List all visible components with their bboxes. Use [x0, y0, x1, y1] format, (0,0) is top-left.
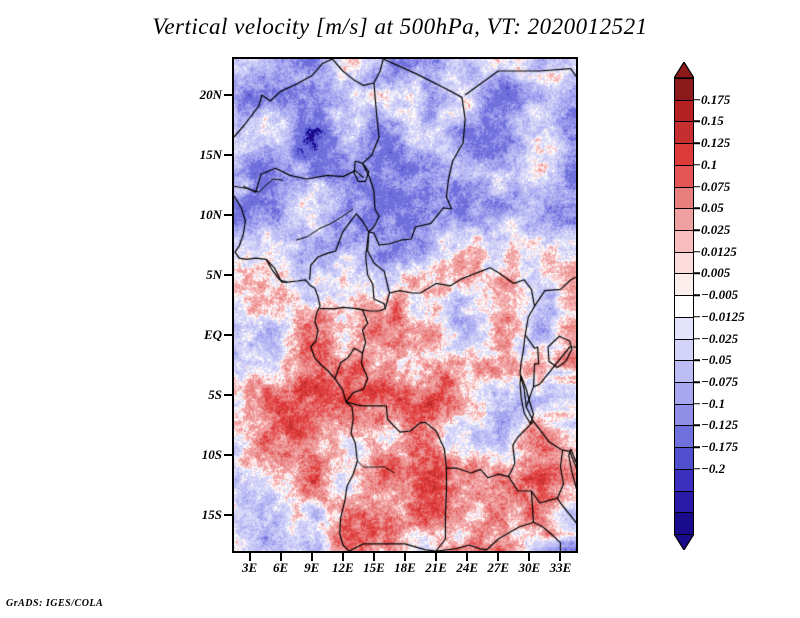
colorbar-swatch: [674, 230, 694, 253]
longitude-tick-mark: [280, 553, 282, 561]
latitude-tick-label: 15N: [200, 147, 222, 163]
colorbar-tick-mark: [694, 425, 700, 427]
latitude-tick-label: 5S: [208, 387, 222, 403]
colorbar-tick-mark: [694, 446, 700, 448]
colorbar-tick-mark: [694, 360, 700, 362]
credit-label: GrADS: IGES/COLA: [6, 598, 103, 609]
longitude-tick-label: 6E: [273, 560, 288, 576]
latitude-tick-mark: [224, 274, 232, 276]
latitude-tick-mark: [224, 154, 232, 156]
colorbar-tick-label: −0.1: [701, 396, 725, 412]
latitude-tick-label: 20N: [200, 87, 222, 103]
longitude-tick-mark: [435, 553, 437, 561]
colorbar-tick-mark: [694, 99, 700, 101]
colorbar-tick-label: 0.125: [701, 135, 730, 151]
latitude-tick-label: 15S: [202, 507, 222, 523]
colorbar-swatch: [674, 121, 694, 144]
colorbar-tick-mark: [694, 164, 700, 166]
longitude-tick-mark: [497, 553, 499, 561]
colorbar-tick-label: −0.005: [701, 287, 738, 303]
latitude-tick-mark: [224, 334, 232, 336]
colorbar-tick-label: −0.025: [701, 331, 738, 347]
colorbar-swatch: [674, 339, 694, 362]
longitude-tick-mark: [311, 553, 313, 561]
latitude-tick-mark: [224, 514, 232, 516]
longitude-tick-label: 24E: [456, 560, 478, 576]
colorbar-tick-mark: [694, 142, 700, 144]
latitude-tick-label: EQ: [204, 327, 222, 343]
latitude-tick-label: 10S: [202, 447, 222, 463]
colorbar-tick-label: 0.1: [701, 157, 717, 173]
colorbar-swatch: [674, 425, 694, 448]
colorbar-swatch: [674, 165, 694, 188]
colorbar-arrow-top: [674, 62, 694, 78]
longitude-tick-mark: [249, 553, 251, 561]
latitude-tick-label: 10N: [200, 207, 222, 223]
colorbar-swatch: [674, 360, 694, 383]
colorbar-swatch: [674, 208, 694, 231]
colorbar-tick-mark: [694, 338, 700, 340]
longitude-tick-mark: [342, 553, 344, 561]
colorbar-tick-label: 0.05: [701, 200, 724, 216]
colorbar-tick-label: 0.15: [701, 113, 724, 129]
colorbar-swatch: [674, 382, 694, 405]
map-panel[interactable]: [232, 57, 578, 553]
longitude-tick-mark: [373, 553, 375, 561]
colorbar-tick-mark: [694, 294, 700, 296]
longitude-tick-mark: [466, 553, 468, 561]
colorbar-swatch: [674, 317, 694, 340]
colorbar-swatch: [674, 447, 694, 470]
colorbar-tick-label: 0.025: [701, 222, 730, 238]
colorbar-tick-label: −0.175: [701, 439, 738, 455]
colorbar-swatch: [674, 469, 694, 492]
longitude-tick-label: 33E: [550, 560, 572, 576]
longitude-tick-label: 30E: [519, 560, 541, 576]
latitude-tick-mark: [224, 454, 232, 456]
colorbar-swatch: [674, 404, 694, 427]
colorbar-swatch: [674, 100, 694, 123]
vertical-velocity-field: [234, 59, 576, 551]
colorbar-tick-mark: [694, 229, 700, 231]
colorbar-arrow-bottom: [674, 534, 694, 550]
longitude-tick-mark: [559, 553, 561, 561]
colorbar[interactable]: 0.1750.150.1250.10.0750.050.0250.01250.0…: [668, 62, 798, 562]
colorbar-tick-label: 0.175: [701, 92, 730, 108]
colorbar-tick-label: −0.125: [701, 417, 738, 433]
page-title: Vertical velocity [m/s] at 500hPa, VT: 2…: [0, 14, 800, 40]
colorbar-swatch: [674, 491, 694, 514]
colorbar-swatch: [674, 143, 694, 166]
colorbar-swatch: [674, 273, 694, 296]
colorbar-tick-mark: [694, 251, 700, 253]
colorbar-tick-label: −0.05: [701, 352, 732, 368]
colorbar-tick-mark: [694, 316, 700, 318]
colorbar-tick-mark: [694, 121, 700, 123]
latitude-tick-mark: [224, 94, 232, 96]
colorbar-tick-mark: [694, 208, 700, 210]
colorbar-swatch: [674, 78, 694, 101]
longitude-tick-label: 9E: [304, 560, 319, 576]
longitude-tick-label: 15E: [363, 560, 385, 576]
colorbar-tick-mark: [694, 273, 700, 275]
latitude-tick-label: 5N: [206, 267, 222, 283]
colorbar-tick-mark: [694, 403, 700, 405]
colorbar-tick-label: −0.0125: [701, 309, 745, 325]
colorbar-swatch: [674, 252, 694, 275]
colorbar-swatch: [674, 512, 694, 535]
longitude-tick-label: 27E: [487, 560, 509, 576]
colorbar-tick-label: −0.075: [701, 374, 738, 390]
colorbar-tick-mark: [694, 381, 700, 383]
colorbar-tick-label: 0.0125: [701, 244, 737, 260]
longitude-tick-mark: [528, 553, 530, 561]
longitude-tick-label: 18E: [394, 560, 416, 576]
colorbar-swatch: [674, 187, 694, 210]
longitude-tick-label: 12E: [332, 560, 354, 576]
colorbar-tick-label: −0.2: [701, 461, 725, 477]
longitude-tick-label: 21E: [425, 560, 447, 576]
colorbar-swatch: [674, 295, 694, 318]
colorbar-tick-mark: [694, 468, 700, 470]
latitude-tick-mark: [224, 394, 232, 396]
colorbar-tick-label: 0.075: [701, 179, 730, 195]
longitude-tick-mark: [404, 553, 406, 561]
colorbar-tick-mark: [694, 186, 700, 188]
latitude-tick-mark: [224, 214, 232, 216]
longitude-tick-label: 3E: [242, 560, 257, 576]
colorbar-tick-label: 0.005: [701, 265, 730, 281]
